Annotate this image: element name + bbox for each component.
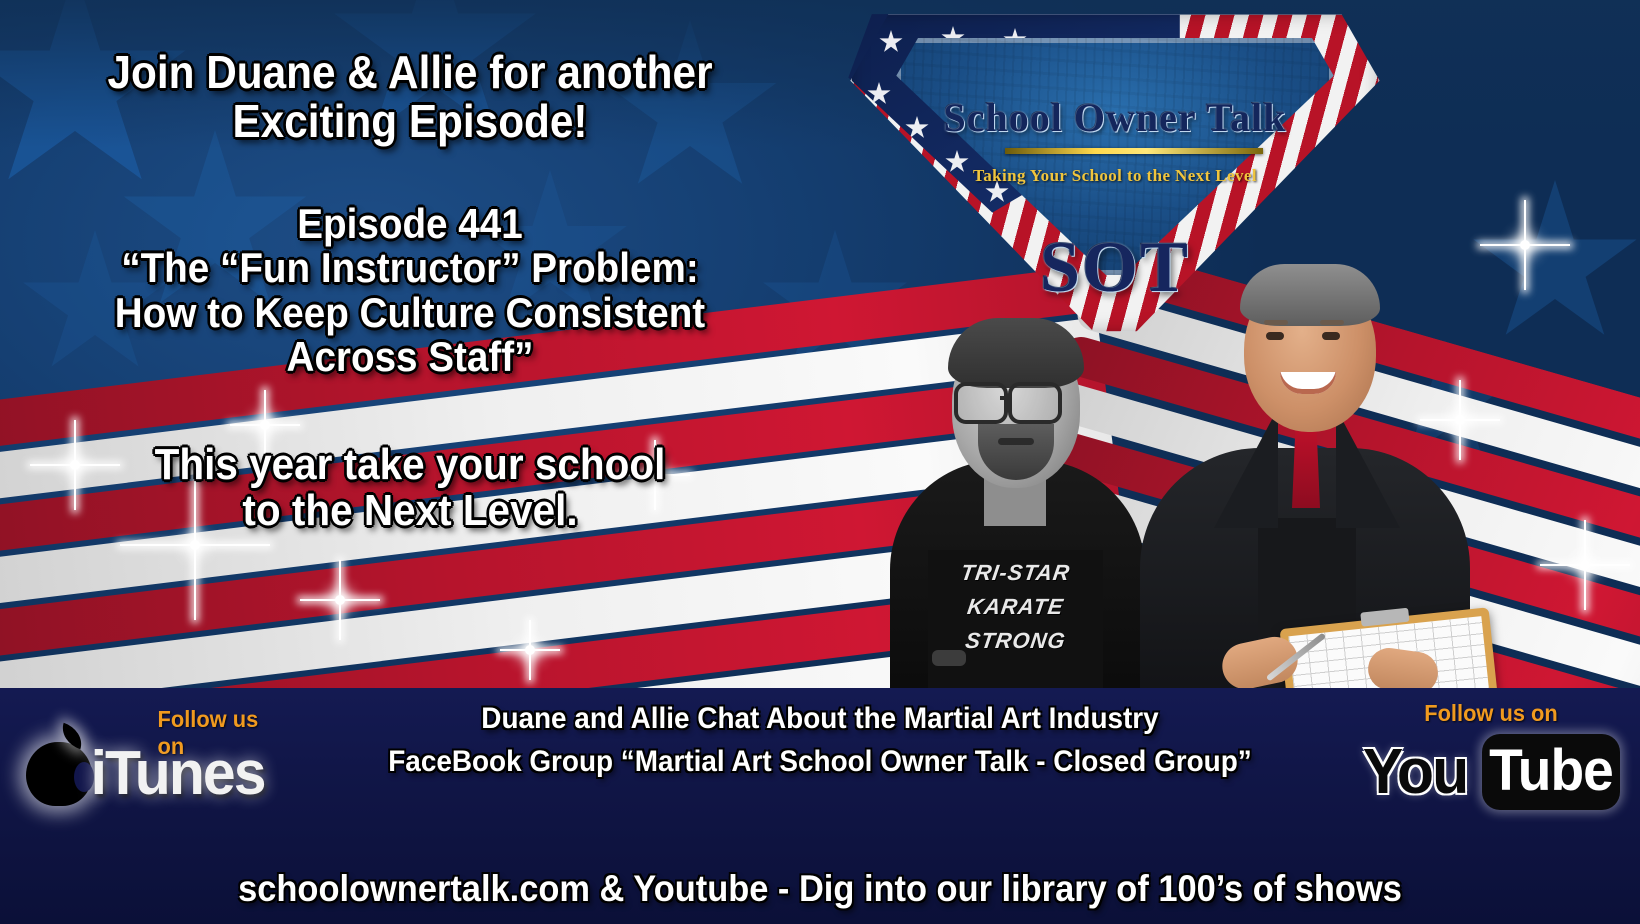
footer-line-2: FaceBook Group “Martial Art School Owner… xyxy=(327,745,1313,779)
headline-line-1: Join Duane & Allie for another xyxy=(33,48,787,97)
host-left-mouth xyxy=(998,438,1034,445)
youtube-tube-box: Tube xyxy=(1482,734,1620,810)
youtube-wordmark-you: You xyxy=(1363,734,1468,808)
wristwatch xyxy=(932,650,966,666)
eyeglasses-bridge xyxy=(1000,396,1010,400)
podcast-episode-poster: Join Duane & Allie for another Exciting … xyxy=(0,0,1640,924)
footer-banner: Follow us on iTunes Duane and Allie Chat… xyxy=(0,688,1640,924)
host-photo-left: TRI-STAR KARATE STRONG xyxy=(880,270,1150,700)
headline-line-2: Exciting Episode! xyxy=(33,97,787,146)
episode-title-line-2: How to Keep Culture Consistent xyxy=(33,291,787,336)
host-right-brow xyxy=(1264,320,1288,325)
eyeglasses-icon xyxy=(1008,382,1062,424)
episode-title-line-3: Across Staff” xyxy=(33,335,787,380)
logo-title: School Owner Talk xyxy=(845,94,1385,141)
host-right-eye xyxy=(1266,332,1284,340)
host-left-tshirt: TRI-STAR KARATE STRONG xyxy=(928,550,1103,700)
host-right-eye xyxy=(1322,332,1340,340)
host-right-hair xyxy=(1240,264,1380,326)
youtube-icon: You Tube xyxy=(1356,730,1626,814)
footer-line-3[interactable]: schoolownertalk.com & Youtube - Dig into… xyxy=(57,868,1582,910)
youtube-wordmark-tube: Tube xyxy=(1485,737,1616,804)
footer-text-block: Duane and Allie Chat About the Martial A… xyxy=(290,702,1350,778)
tshirt-line-2: KARATE xyxy=(926,594,1105,620)
tagline-line-1: This year take your school xyxy=(33,442,787,489)
youtube-follow-badge[interactable]: Follow us on You Tube xyxy=(1356,698,1626,818)
itunes-wordmark: iTunes xyxy=(91,738,265,809)
host-left-hair xyxy=(948,318,1084,388)
footer-line-1: Duane and Allie Chat About the Martial A… xyxy=(327,702,1313,736)
poster-copy: Join Duane & Allie for another Exciting … xyxy=(0,48,820,535)
logo-gold-rule xyxy=(1005,148,1263,154)
host-photo-right xyxy=(1140,258,1470,698)
host-right-brow xyxy=(1320,320,1344,325)
itunes-follow-badge[interactable]: Follow us on iTunes xyxy=(14,698,294,813)
episode-title-line-1: “The “Fun Instructor” Problem: xyxy=(33,246,787,291)
logo-tagline: Taking Your School to the Next Level xyxy=(845,166,1385,186)
tshirt-line-1: TRI-STAR xyxy=(926,560,1105,586)
eyeglasses-icon xyxy=(954,382,1008,424)
tagline-line-2: to the Next Level. xyxy=(33,488,787,535)
youtube-follow-label: Follow us on xyxy=(1363,700,1620,727)
episode-number: Episode 441 xyxy=(33,202,787,247)
apple-icon xyxy=(22,724,96,808)
